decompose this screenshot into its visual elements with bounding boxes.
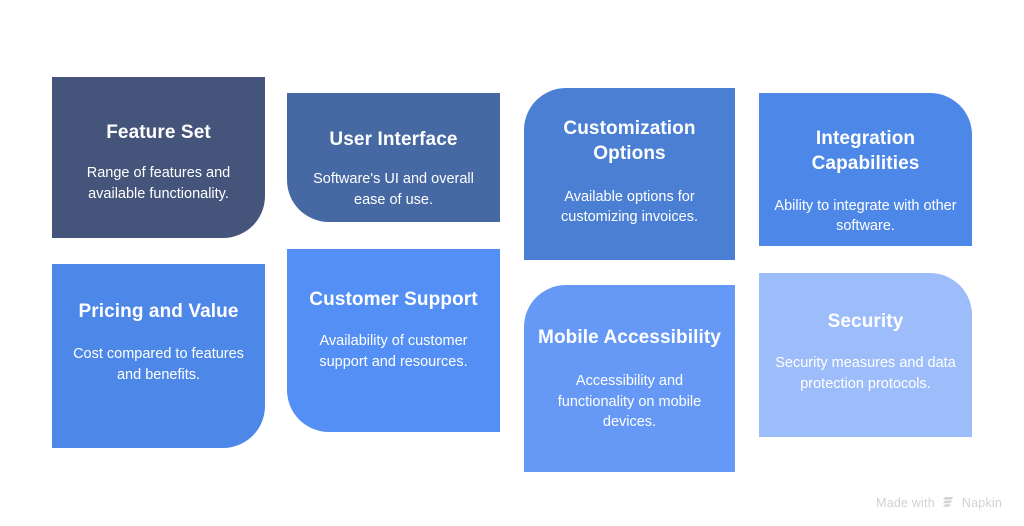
card-description: Range of features and available function…: [66, 163, 251, 204]
card-feature-set[interactable]: Feature Set Range of features and availa…: [52, 77, 265, 238]
card-title: Customization Options: [538, 116, 721, 167]
card-description: Security measures and data protection pr…: [773, 353, 958, 394]
card-title: Integration Capabilities: [773, 126, 958, 177]
card-description: Software's UI and overall ease of use.: [301, 169, 486, 210]
card-description: Availability of customer support and res…: [301, 331, 486, 372]
diagram-canvas: Feature Set Range of features and availa…: [0, 0, 1024, 526]
card-security[interactable]: Security Security measures and data prot…: [759, 273, 972, 437]
made-with-napkin-watermark[interactable]: Made with Napkin: [876, 496, 1002, 510]
card-user-interface[interactable]: User Interface Software's UI and overall…: [287, 93, 500, 222]
card-pricing-and-value[interactable]: Pricing and Value Cost compared to featu…: [52, 264, 265, 448]
napkin-logo-icon: [941, 496, 956, 510]
card-customization-options[interactable]: Customization Options Available options …: [524, 88, 735, 260]
watermark-brand-label: Napkin: [962, 496, 1002, 510]
card-title: Security: [828, 309, 904, 334]
card-title: Feature Set: [106, 120, 211, 145]
card-title: User Interface: [329, 127, 457, 152]
card-integration-capabilities[interactable]: Integration Capabilities Ability to inte…: [759, 93, 972, 246]
card-title: Mobile Accessibility: [538, 325, 721, 350]
card-customer-support[interactable]: Customer Support Availability of custome…: [287, 249, 500, 432]
card-description: Cost compared to features and benefits.: [66, 344, 251, 385]
card-description: Accessibility and functionality on mobil…: [538, 371, 721, 433]
card-mobile-accessibility[interactable]: Mobile Accessibility Accessibility and f…: [524, 285, 735, 472]
card-description: Available options for customizing invoic…: [538, 187, 721, 228]
card-title: Pricing and Value: [78, 299, 238, 324]
watermark-prefix-label: Made with: [876, 496, 935, 510]
card-description: Ability to integrate with other software…: [773, 196, 958, 237]
card-title: Customer Support: [309, 287, 477, 312]
